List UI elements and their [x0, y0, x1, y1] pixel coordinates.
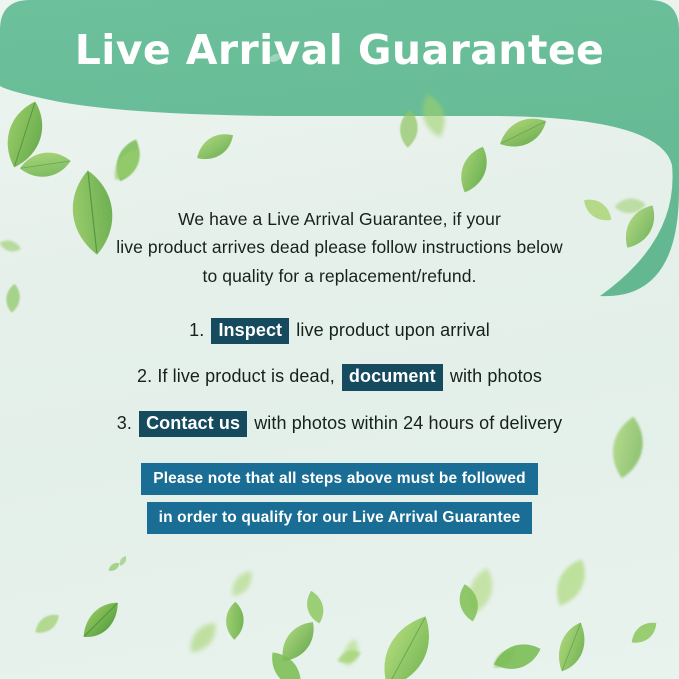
note-line-2: in order to qualify for our Live Arrival…: [147, 502, 533, 534]
step-text-before: If live product is dead,: [157, 366, 335, 386]
leaf-icon: [530, 609, 616, 679]
leaf-icon: [487, 627, 548, 679]
leaf-icon: [108, 146, 146, 184]
leaf-icon: [365, 611, 448, 679]
main-content: We have a Live Arrival Guarantee, if you…: [0, 205, 679, 534]
intro-paragraph: We have a Live Arrival Guarantee, if you…: [90, 205, 590, 290]
leaf-icon: [446, 580, 493, 627]
leaf-icon: [116, 551, 131, 571]
leaf-icon: [65, 593, 136, 653]
list-item: 2. If live product is dead, document wit…: [0, 364, 679, 390]
leaf-icon: [333, 635, 369, 671]
step-highlight-document: document: [342, 364, 443, 390]
step-number: 3.: [117, 413, 132, 433]
leaf-icon: [494, 104, 552, 162]
note-line-1: Please note that all steps above must be…: [141, 463, 538, 495]
steps-list: 1. Inspect live product upon arrival 2. …: [0, 318, 679, 437]
notes-container: Please note that all steps above must be…: [0, 463, 679, 535]
leaf-icon: [0, 93, 67, 177]
step-highlight-contact-us: Contact us: [139, 411, 247, 437]
intro-line-1: We have a Live Arrival Guarantee, if you…: [90, 205, 590, 233]
leaf-icon: [264, 648, 308, 679]
leaf-icon: [101, 133, 154, 186]
step-number: 1.: [189, 320, 204, 340]
leaf-icon: [385, 105, 433, 153]
step-number: 2.: [137, 366, 152, 386]
leaf-icon: [628, 611, 660, 656]
step-text-after: with photos: [450, 366, 542, 386]
page-title: Live Arrival Guarantee: [75, 28, 605, 73]
leaf-icon: [448, 560, 514, 622]
leaf-icon: [403, 81, 466, 151]
leaf-icon: [192, 124, 237, 169]
leaf-icon: [295, 587, 336, 628]
live-arrival-guarantee-infographic: Live Arrival Guarantee We have a Live Ar…: [0, 0, 679, 679]
step-text-after: live product upon arrival: [296, 320, 490, 340]
leaf-icon: [445, 141, 503, 199]
leaf-icon: [491, 639, 518, 679]
intro-line-2: live product arrives dead please follow …: [90, 233, 590, 261]
leaf-icon: [31, 603, 62, 644]
leaf-icon: [332, 637, 366, 677]
intro-line-3: to quality for a replacement/refund.: [90, 262, 590, 290]
list-item: 3. Contact us with photos within 24 hour…: [0, 411, 679, 437]
leaf-icon: [542, 554, 601, 613]
leaf-icon: [13, 133, 77, 197]
step-highlight-inspect: Inspect: [211, 318, 289, 344]
step-text-after: with photos within 24 hours of delivery: [254, 413, 562, 433]
leaf-icon: [273, 617, 323, 667]
page-title-container: Live Arrival Guarantee: [0, 28, 679, 73]
leaf-icon: [106, 555, 122, 579]
list-item: 1. Inspect live product upon arrival: [0, 318, 679, 344]
leaf-icon: [205, 591, 264, 651]
leaf-icon: [226, 568, 258, 600]
leaf-icon: [183, 608, 223, 667]
